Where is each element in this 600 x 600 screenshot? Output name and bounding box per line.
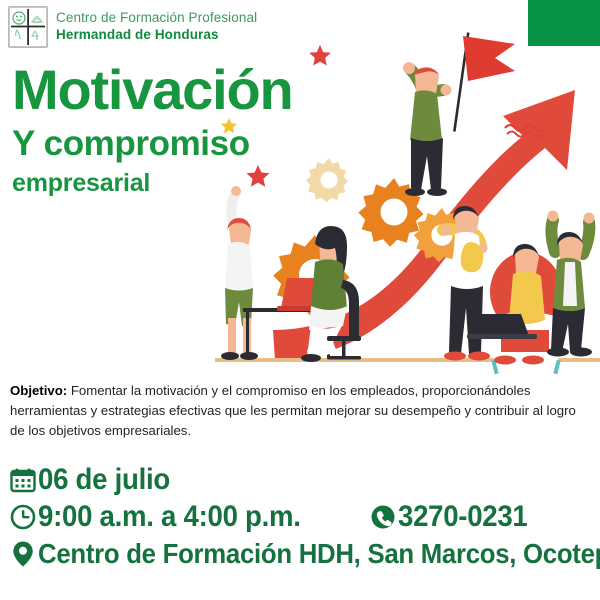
jacket [410,90,442,143]
shoe-left [405,188,425,196]
page-subtitle-2: empresarial [12,169,292,198]
clock-icon [8,500,38,534]
institution-quadrant-logo-icon [8,6,48,48]
gear-cream-icon [306,158,348,203]
chair-post [342,340,346,358]
calendar-icon [8,463,38,497]
event-time: 9:00 a.m. a 4:00 p.m. [38,500,301,534]
org-name-line1: Centro de Formación Profesional [56,10,257,27]
star-red-1-icon [309,45,331,66]
page-title: Motivación [12,62,292,118]
shoe-right [570,348,592,357]
hand-right [584,213,595,224]
shoe-left [494,356,516,365]
pants [551,308,585,352]
shoe-right [427,188,447,196]
shoe-left [444,352,466,361]
objective-text: Fomentar la motivación y el compromiso e… [10,383,576,438]
phone-group[interactable]: 3270-0231 [368,500,539,534]
shoe-right [468,352,490,361]
info-row-location: Centro de Formación HDH, San Marcos, Oco… [8,537,592,571]
bag [461,242,484,272]
laptop-screen [471,314,529,336]
pants [411,138,443,190]
event-info-block: 06 de julio 9:00 a.m. a 4:00 p.m. 327 [8,463,592,571]
location-pin-icon [8,537,38,571]
chair-base [327,356,361,360]
shirt [225,242,253,291]
objective-paragraph: Objetivo: Fomentar la motivación y el co… [10,381,592,441]
logo-svg [9,7,47,47]
shoe-left [221,352,239,360]
arm-left [551,220,555,252]
shoe-left [547,348,569,357]
page-subtitle: Y compromiso [12,124,292,164]
arm-right [583,222,589,254]
title-block: Motivación Y compromiso empresarial [12,62,292,198]
event-location: Centro de Formación HDH, San Marcos, Oco… [38,537,600,571]
flyer-canvas: Centro de Formación Profesional Hermanda… [0,0,600,600]
event-date: 06 de julio [38,463,170,497]
laptop-base [467,334,537,339]
inner-shirt [563,262,577,306]
objective-label: Objetivo: [10,383,67,398]
red-flag [463,36,515,81]
person-standing-left [221,186,258,360]
hand-left [403,62,415,74]
shoe-right [522,356,544,365]
shoe [301,354,321,362]
hand-right [441,85,452,96]
info-row-date: 06 de julio [8,463,592,497]
hand-left [441,225,452,236]
hand-left [548,211,559,222]
phone-number[interactable]: 3270-0231 [398,500,528,534]
leg-left [228,318,236,354]
phone-icon[interactable] [368,500,398,534]
info-row-time-phone: 9:00 a.m. a 4:00 p.m. 3270-0231 [8,500,592,534]
